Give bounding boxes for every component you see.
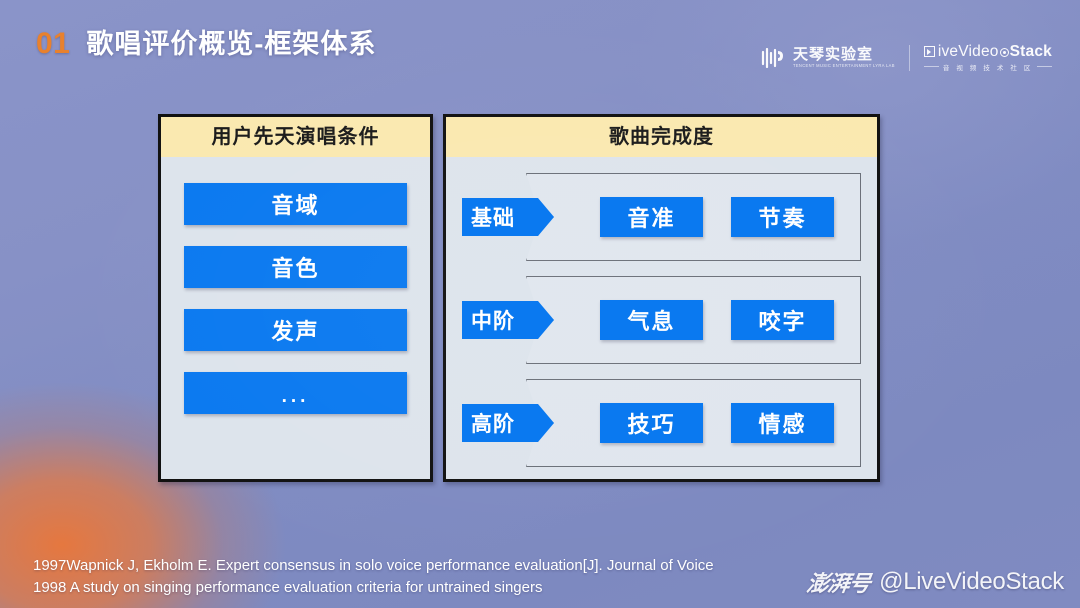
page-title: 歌唱评价概览-框架体系 (86, 22, 376, 61)
tier-tag-advanced[interactable]: 高阶 (462, 404, 554, 442)
tianqin-wave-icon (761, 48, 787, 68)
tianqin-lab-logo: 天琴实验室 TENCENT MUSIC ENTERTAINMENT LYRA L… (761, 47, 895, 68)
livevideostack-subtitle-row: 音 视 频 技 术 社 区 (924, 62, 1052, 72)
logo-divider (909, 45, 910, 71)
panel-innate-conditions: 用户先天演唱条件 音域 音色 发声 ... (158, 114, 433, 482)
footnote-line-1: 1997Wapnick J, Ekholm E. Expert consensu… (33, 555, 714, 577)
panel-left-header: 用户先天演唱条件 (161, 117, 430, 157)
list-item[interactable]: 音色 (184, 246, 407, 288)
metric-chip[interactable]: 节奏 (731, 197, 834, 237)
watermark-brand: 澎湃号 (805, 566, 873, 598)
metric-chip[interactable]: 音准 (600, 197, 703, 237)
rule-left (924, 66, 939, 67)
tianqin-subtitle: TENCENT MUSIC ENTERTAINMENT LYRA LAB (793, 63, 895, 68)
slide-header: 01 歌唱评价概览-框架体系 (36, 22, 376, 61)
tier-chip-group-basic: 音准 节奏 (600, 197, 834, 237)
slide-canvas: 01 歌唱评价概览-框架体系 天琴实验室 TENCENT MUSIC ENTER… (0, 0, 1080, 608)
rule-right (1037, 66, 1052, 67)
tier-tag-intermediate[interactable]: 中阶 (462, 301, 554, 339)
lvs-stack-text: Stack (1010, 44, 1052, 60)
watermark-handle: @LiveVideoStack (879, 568, 1064, 596)
metric-chip[interactable]: 情感 (731, 403, 834, 443)
panel-right-header: 歌曲完成度 (446, 117, 877, 157)
lvs-circle-icon (1000, 48, 1009, 57)
tier-row-basic: 基础 音准 节奏 (462, 173, 861, 261)
list-item[interactable]: 发声 (184, 309, 407, 351)
tier-chip-group-intermediate: 气息 咬字 (600, 300, 834, 340)
metric-chip[interactable]: 气息 (600, 300, 703, 340)
footnote-line-2: 1998 A study on singing performance eval… (33, 577, 714, 599)
panel-song-completion: 歌曲完成度 基础 音准 节奏 中阶 气息 咬字 高阶 (443, 114, 880, 482)
reference-footnotes: 1997Wapnick J, Ekholm E. Expert consensu… (33, 555, 714, 599)
list-item[interactable]: 音域 (184, 183, 407, 225)
logo-group: 天琴实验室 TENCENT MUSIC ENTERTAINMENT LYRA L… (761, 44, 1052, 72)
livevideostack-logo: iveVideoStack 音 视 频 技 术 社 区 (924, 44, 1052, 72)
panel-right-body: 基础 音准 节奏 中阶 气息 咬字 高阶 技巧 情感 (446, 157, 877, 467)
livevideostack-wordmark: iveVideoStack (924, 44, 1052, 60)
watermark: 澎湃号 @LiveVideoStack (807, 566, 1064, 598)
lvs-video-text: Video (958, 44, 998, 60)
metric-chip[interactable]: 咬字 (731, 300, 834, 340)
tier-row-intermediate: 中阶 气息 咬字 (462, 276, 861, 364)
tier-tag-basic[interactable]: 基础 (462, 198, 554, 236)
tier-row-advanced: 高阶 技巧 情感 (462, 379, 861, 467)
panel-left-body: 音域 音色 发声 ... (161, 157, 430, 414)
livevideostack-subtitle: 音 视 频 技 术 社 区 (943, 62, 1033, 72)
tier-chip-group-advanced: 技巧 情感 (600, 403, 834, 443)
tianqin-name: 天琴实验室 (793, 47, 873, 63)
section-number: 01 (36, 27, 70, 61)
tianqin-text: 天琴实验室 TENCENT MUSIC ENTERTAINMENT LYRA L… (793, 47, 895, 68)
metric-chip[interactable]: 技巧 (600, 403, 703, 443)
list-item-more[interactable]: ... (184, 372, 407, 414)
play-square-icon (924, 46, 935, 57)
lvs-live-text: ive (938, 44, 958, 60)
